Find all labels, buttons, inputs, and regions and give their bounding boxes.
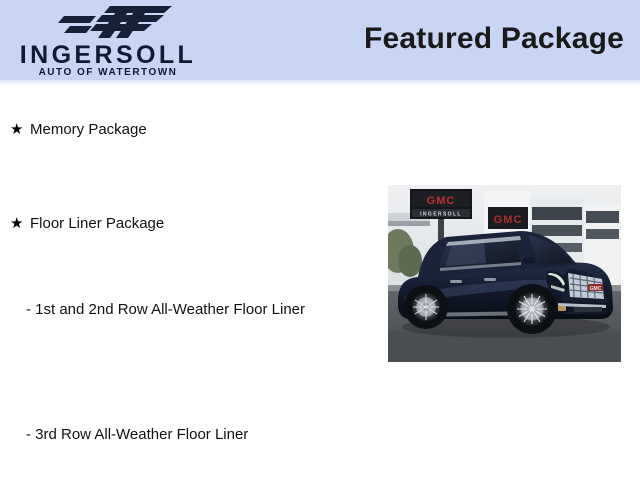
slide-canvas: INGERSOLL AUTO OF WATERTOWN Featured Pac… <box>0 0 640 480</box>
list-item: ★ Memory Package <box>10 119 366 140</box>
feature-label: Memory Package <box>30 119 366 140</box>
svg-text:GMC: GMC <box>590 286 602 292</box>
list-item-sub: - 3rd Row All-Weather Floor Liner <box>26 424 342 445</box>
brand-name: INGERSOLL <box>8 42 208 68</box>
vehicle-photo: GMC INGERSOLL GMC <box>388 185 621 362</box>
svg-text:INGERSOLL: INGERSOLL <box>420 212 462 218</box>
brand-tagline: AUTO OF WATERTOWN <box>8 67 208 78</box>
header-band: INGERSOLL AUTO OF WATERTOWN Featured Pac… <box>0 0 640 80</box>
list-item: ★ Floor Liner Package <box>10 213 366 234</box>
header-fade-divider <box>0 80 640 86</box>
feature-label: Floor Liner Package <box>30 213 366 234</box>
page-title: Featured Package <box>364 22 624 56</box>
dealer-logo: INGERSOLL AUTO OF WATERTOWN <box>8 2 208 78</box>
star-icon: ★ <box>10 119 30 140</box>
star-icon: ★ <box>10 213 30 234</box>
list-item-sub: - 1st and 2nd Row All-Weather Floor Line… <box>26 299 342 320</box>
ingersoll-wing-emblem-icon <box>52 4 176 42</box>
svg-text:GMC: GMC <box>494 214 523 226</box>
svg-text:GMC: GMC <box>427 195 456 207</box>
